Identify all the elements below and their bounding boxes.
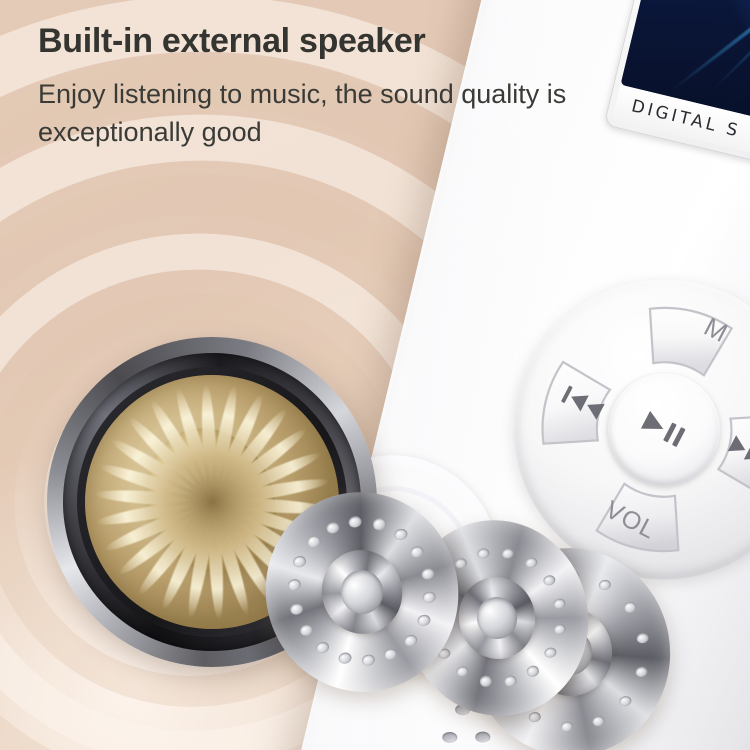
device-screen-frame: DIGITAL S: [604, 0, 750, 195]
magnet-plate-hole: [288, 602, 303, 616]
magnet-plate-hole: [306, 535, 321, 549]
magnet-plate-hole: [360, 653, 375, 667]
magnet-plate-hole: [619, 695, 633, 707]
magnet-plate-hole: [543, 574, 557, 587]
page-title: Built-in external speaker: [38, 22, 425, 61]
magnet-plate-hole: [598, 579, 612, 591]
magnet-plate-hole: [298, 623, 313, 637]
magnet-plate-hole: [634, 666, 648, 678]
magnet-plate-hole: [501, 547, 515, 560]
magnet-plate-hole: [553, 623, 567, 636]
magnet-plate-hole: [393, 527, 408, 541]
grille-hole: [442, 732, 457, 743]
magnet-plate-hole: [636, 632, 650, 644]
product-feature-banner: DIGITAL S: [0, 0, 750, 750]
voice-coil-core: [473, 593, 521, 643]
screen-light-streak: [668, 0, 750, 94]
magnet-plate-hole: [286, 578, 301, 592]
magnet-plate-hole: [325, 521, 340, 535]
magnet-plate-hole: [292, 554, 307, 568]
magnet-plate-hole: [416, 614, 431, 628]
magnet-plate-hole: [453, 557, 467, 570]
magnet-plate-hole: [383, 647, 398, 661]
magnet-plate-hole: [592, 715, 606, 727]
magnet-plate-hole: [526, 665, 540, 678]
magnet-plate-hole: [528, 711, 542, 723]
magnet-plate-hole: [544, 647, 558, 660]
magnet-plate-hole: [552, 598, 566, 611]
magnet-plate-hole: [503, 675, 517, 688]
magnet-plate-hole: [410, 545, 425, 559]
voice-coil-core: [336, 565, 388, 618]
magnet-plate-hole: [478, 675, 492, 688]
magnet-plate-hole: [420, 566, 435, 580]
magnet-plate-hole: [371, 517, 386, 531]
magnet-plate-hole: [525, 556, 539, 569]
magnet-plate-hole: [348, 515, 363, 529]
magnet-plate-hole: [315, 641, 330, 655]
magnet-plate-hole: [337, 651, 352, 665]
magnet-plate-hole: [476, 547, 490, 560]
magnet-plate-hole: [623, 601, 637, 613]
magnet-plate-hole: [402, 633, 417, 647]
magnet-plate-hole: [422, 590, 437, 604]
page-subtitle: Enjoy listening to music, the sound qual…: [38, 76, 578, 152]
magnet-plate-hole: [560, 720, 574, 732]
